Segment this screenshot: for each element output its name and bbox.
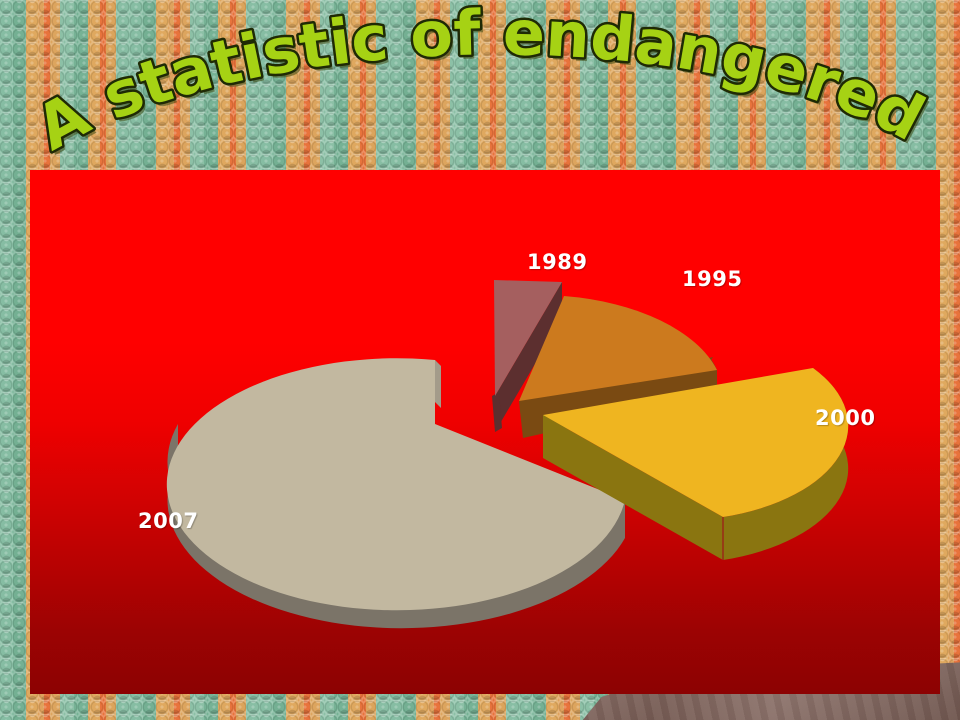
chart-panel[interactable]: 1989 1995 2000 2007 <box>30 170 940 694</box>
presentation-slide: A statistic of endangered animals A stat… <box>0 0 960 720</box>
pie-label-2007: 2007 <box>138 509 198 533</box>
pie-label-1995: 1995 <box>682 267 742 291</box>
pie-slice-2007-cut-wall <box>435 360 441 408</box>
pie-chart-3d[interactable] <box>30 170 940 694</box>
pie-label-1989: 1989 <box>527 250 587 274</box>
pie-label-2000: 2000 <box>815 406 875 430</box>
